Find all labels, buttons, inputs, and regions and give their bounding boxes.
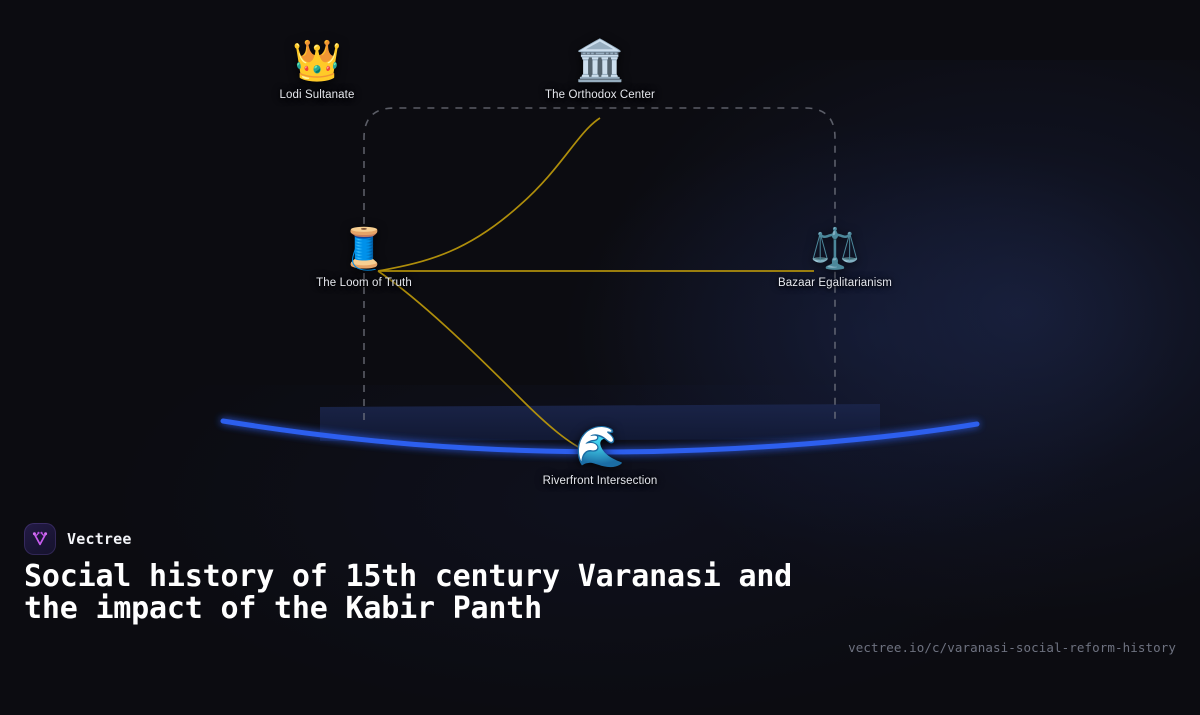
water-wave-icon: 🌊 (485, 425, 715, 469)
graph-node-riverfront[interactable]: 🌊 Riverfront Intersection (485, 425, 715, 487)
footer: Vectree Social history of 15th century V… (0, 515, 1200, 675)
page-title: Social history of 15th century Varanasi … (24, 561, 844, 625)
poster-canvas: 👑 Lodi Sultanate 🏛️ The Orthodox Center … (0, 0, 1200, 675)
classical-building-icon: 🏛️ (485, 39, 715, 83)
v-tree-glyph (30, 529, 50, 549)
vectree-logo-icon (24, 523, 56, 555)
graph-node-lodi[interactable]: 👑 Lodi Sultanate (202, 39, 432, 101)
graph-node-bazaar[interactable]: ⚖️ Bazaar Egalitarianism (720, 227, 950, 289)
graph-node-loom[interactable]: 🧵 The Loom of Truth (249, 227, 479, 289)
node-label: Riverfront Intersection (485, 475, 715, 487)
node-label: The Loom of Truth (249, 277, 479, 289)
crown-icon: 👑 (202, 39, 432, 83)
thread-spool-icon: 🧵 (249, 227, 479, 271)
node-label: Lodi Sultanate (202, 89, 432, 101)
balance-scale-icon: ⚖️ (720, 227, 950, 271)
node-label: Bazaar Egalitarianism (720, 277, 950, 289)
brand-name: Vectree (67, 530, 132, 548)
brand[interactable]: Vectree (24, 523, 132, 555)
graph-node-orthodox[interactable]: 🏛️ The Orthodox Center (485, 39, 715, 101)
node-label: The Orthodox Center (485, 89, 715, 101)
page-url: vectree.io/c/varanasi-social-reform-hist… (848, 640, 1176, 655)
